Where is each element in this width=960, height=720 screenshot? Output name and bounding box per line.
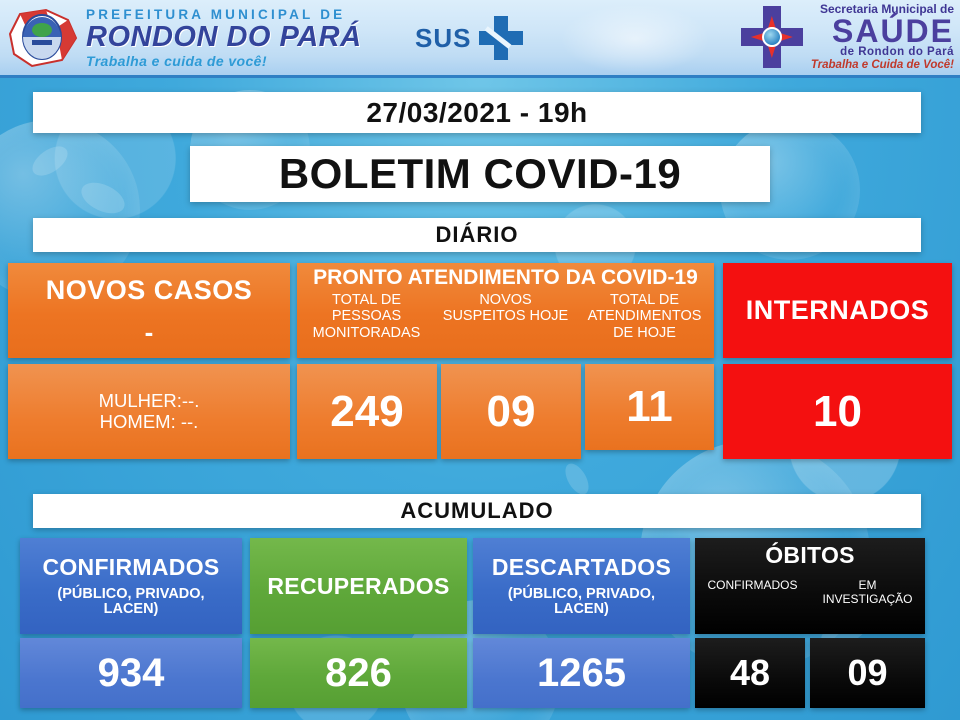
date-banner: 27/03/2021 - 19h: [33, 92, 921, 133]
daily-section-heading: DIÁRIO: [33, 218, 921, 252]
page-title: BOLETIM COVID-19: [190, 146, 770, 202]
descartados-subtitle: (PÚBLICO, PRIVADO, LACEN): [473, 587, 690, 617]
obitos-title-card: ÓBITOS CONFIRMADOS EM INVESTIGAÇÃO: [695, 538, 925, 634]
obitos-investigacao-value: 09: [847, 655, 887, 691]
novos-casos-title: NOVOS CASOS: [46, 276, 253, 304]
covid-bulletin-page: PREFEITURA MUNICIPAL DE RONDON DO PARÁ T…: [0, 0, 960, 720]
confirmados-title: CONFIRMADOS: [42, 555, 219, 579]
pronto-atendimento-col-label-1: NOVOS SUSPEITOS HOJE: [436, 292, 575, 324]
novos-casos-gender-card: MULHER:--. HOMEM: --.: [8, 364, 290, 459]
descartados-title: DESCARTADOS: [492, 555, 671, 579]
recuperados-value-card: 826: [250, 638, 467, 708]
confirmados-value-card: 934: [20, 638, 242, 708]
sus-logo: SUS: [415, 16, 523, 60]
city-crest-icon: [6, 4, 80, 72]
novos-casos-mulher: MULHER:--.: [99, 391, 200, 412]
obitos-confirmados-value: 48: [730, 655, 770, 691]
prefecture-logo: PREFEITURA MUNICIPAL DE RONDON DO PARÁ T…: [6, 4, 362, 72]
pronto-atendimento-value-card-1: 09: [441, 364, 581, 459]
health-department-logo: Secretaria Municipal de SAÚDE de Rondon …: [741, 3, 954, 71]
obitos-confirmados-label: CONFIRMADOS: [695, 579, 810, 592]
sus-cross-icon: [479, 16, 523, 60]
pronto-atendimento-value-1: 09: [487, 390, 536, 434]
confirmados-subtitle: (PÚBLICO, PRIVADO, LACEN): [20, 587, 242, 617]
descartados-title-card: DESCARTADOS (PÚBLICO, PRIVADO, LACEN): [473, 538, 690, 634]
prefecture-slogan: Trabalha e cuida de você!: [86, 54, 362, 68]
recuperados-value: 826: [325, 653, 392, 693]
sus-label: SUS: [415, 23, 471, 54]
pronto-atendimento-value-card-0: 249: [297, 364, 437, 459]
secretaria-slogan: Trabalha e Cuida de Você!: [811, 59, 954, 71]
novos-casos-value: -: [145, 319, 154, 345]
novos-casos-title-card: NOVOS CASOS -: [8, 263, 290, 358]
obitos-investigacao-value-card: 09: [810, 638, 925, 708]
internados-value: 10: [813, 390, 862, 434]
obitos-investigacao-label: EM INVESTIGAÇÃO: [810, 579, 925, 606]
confirmados-title-card: CONFIRMADOS (PÚBLICO, PRIVADO, LACEN): [20, 538, 242, 634]
secretaria-line2: SAÚDE: [811, 16, 954, 46]
pronto-atendimento-header-card: PRONTO ATENDIMENTO DA COVID-19 TOTAL DE …: [297, 263, 714, 358]
internados-value-card: 10: [723, 364, 952, 459]
recuperados-title: RECUPERADOS: [267, 574, 449, 598]
internados-title-card: INTERNADOS: [723, 263, 952, 358]
recuperados-title-card: RECUPERADOS: [250, 538, 467, 634]
pronto-atendimento-col-label-2: TOTAL DE ATENDIMENTOS DE HOJE: [575, 292, 714, 341]
pronto-atendimento-value-2: 11: [626, 385, 673, 429]
obitos-title: ÓBITOS: [765, 543, 855, 567]
descartados-value: 1265: [537, 653, 626, 693]
confirmados-value: 934: [98, 653, 165, 693]
prefecture-line1: PREFEITURA MUNICIPAL DE: [86, 8, 362, 22]
pronto-atendimento-title: PRONTO ATENDIMENTO DA COVID-19: [313, 267, 698, 289]
pronto-atendimento-value-card-2: 11: [585, 364, 714, 450]
obitos-confirmados-value-card: 48: [695, 638, 805, 708]
prefecture-line2: RONDON DO PARÁ: [86, 23, 362, 52]
health-cross-icon: [741, 6, 803, 68]
descartados-value-card: 1265: [473, 638, 690, 708]
internados-title: INTERNADOS: [746, 296, 930, 324]
accumulated-section-heading: ACUMULADO: [33, 494, 921, 528]
pronto-atendimento-value-0: 249: [330, 390, 403, 434]
pronto-atendimento-col-label-0: TOTAL DE PESSOAS MONITORADAS: [297, 292, 436, 341]
page-header: PREFEITURA MUNICIPAL DE RONDON DO PARÁ T…: [0, 0, 960, 78]
novos-casos-homem: HOMEM: --.: [100, 412, 199, 433]
